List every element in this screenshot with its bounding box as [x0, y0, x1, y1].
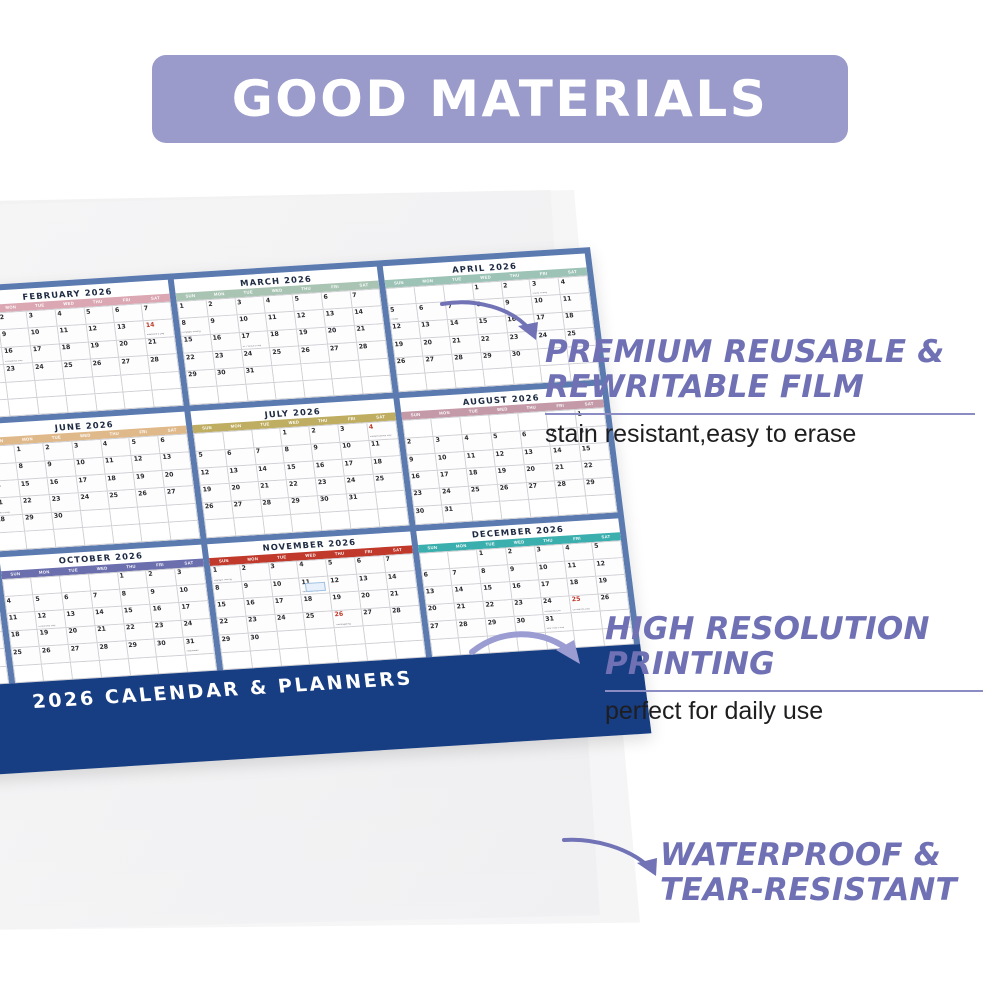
calendar-day-cell[interactable]: 2 — [43, 442, 74, 461]
calendar-day-cell[interactable]: 5 — [34, 593, 65, 612]
calendar-day-cell[interactable] — [586, 495, 617, 514]
calendar-day-cell[interactable]: 15 — [481, 583, 512, 602]
calendar-day-cell[interactable] — [349, 510, 380, 529]
calendar-day-cell[interactable]: 19 — [496, 466, 527, 485]
calendar-day-cell[interactable]: 23 — [512, 598, 543, 617]
calendar-day-cell[interactable]: 25 — [374, 473, 405, 492]
calendar-day-cell[interactable]: 12 — [594, 558, 625, 577]
calendar-day-cell[interactable]: 13 — [115, 322, 146, 341]
calendar-day-cell[interactable]: 26 — [299, 345, 330, 364]
calendar-day-cell[interactable]: 6 — [159, 435, 190, 454]
calendar-day-cell[interactable]: 19 — [393, 339, 424, 358]
calendar-day-cell[interactable] — [277, 630, 308, 649]
calendar-day-cell[interactable] — [364, 625, 395, 644]
calendar-day-cell[interactable]: 27 — [328, 343, 359, 362]
calendar-day-cell[interactable] — [483, 368, 514, 387]
calendar-day-cell[interactable]: 1 — [118, 571, 149, 590]
calendar-day-cell[interactable]: 10 — [436, 452, 467, 471]
calendar-day-cell[interactable]: 9 — [242, 580, 273, 599]
calendar-day-cell[interactable]: 16 — [510, 581, 541, 600]
calendar-day-cell[interactable]: 5 — [326, 558, 357, 577]
calendar-day-cell[interactable]: 23 — [213, 350, 244, 369]
calendar-day-cell[interactable]: 27 — [527, 481, 558, 500]
calendar-day-cell[interactable]: 5Easter — [388, 304, 419, 323]
calendar-day-cell[interactable] — [129, 657, 160, 676]
calendar-day-cell[interactable] — [13, 664, 44, 683]
calendar-day-cell[interactable]: 7 — [0, 463, 19, 482]
calendar-day-cell[interactable]: 29 — [126, 640, 157, 659]
calendar-day-cell[interactable] — [392, 623, 423, 642]
calendar-day-cell[interactable]: 9 — [209, 316, 240, 335]
calendar-day-cell[interactable]: 26 — [136, 488, 167, 507]
calendar-day-cell[interactable] — [359, 358, 390, 377]
calendar-day-cell[interactable] — [112, 525, 143, 544]
calendar-day-cell[interactable]: 9 — [407, 454, 438, 473]
calendar-day-cell[interactable]: 9 — [0, 329, 31, 348]
calendar-day-cell[interactable]: 11 — [566, 560, 597, 579]
calendar-day-cell[interactable]: 20 — [525, 464, 556, 483]
calendar-day-cell[interactable]: 20 — [117, 339, 148, 358]
calendar-day-cell[interactable]: 13 — [324, 308, 355, 327]
calendar-day-cell[interactable]: 19 — [297, 328, 328, 347]
calendar-day-cell[interactable]: 29 — [584, 478, 615, 497]
calendar-day-cell[interactable]: 27 — [424, 354, 455, 373]
calendar-day-cell[interactable]: 19 — [331, 592, 362, 611]
calendar-day-cell[interactable]: 15 — [122, 605, 153, 624]
calendar-day-cell[interactable]: 7 — [350, 289, 381, 308]
calendar-day-cell[interactable]: 25 — [108, 490, 139, 509]
calendar-day-cell[interactable]: 21Father's Day — [0, 497, 23, 516]
calendar-day-cell[interactable] — [157, 655, 188, 674]
calendar-day-cell[interactable]: 19 — [134, 471, 165, 490]
calendar-day-cell[interactable]: 22 — [184, 352, 215, 371]
calendar-day-cell[interactable]: 4Independence Day — [367, 422, 398, 441]
calendar-day-cell[interactable]: 23 — [412, 488, 443, 507]
calendar-day-cell[interactable]: 30 — [52, 511, 83, 530]
calendar-day-cell[interactable] — [222, 651, 253, 670]
calendar-day-cell[interactable]: 13 — [161, 452, 192, 471]
calendar-day-cell[interactable] — [217, 385, 248, 404]
calendar-day-cell[interactable]: 29 — [289, 496, 320, 515]
calendar-day-cell[interactable]: 16Presidents Day — [2, 346, 33, 365]
calendar-day-cell[interactable]: 13 — [522, 447, 553, 466]
calendar-day-cell[interactable]: 8 — [283, 444, 314, 463]
calendar-day-cell[interactable]: 5 — [84, 306, 115, 325]
calendar-day-cell[interactable] — [395, 640, 426, 659]
calendar-day-cell[interactable]: 18 — [563, 311, 594, 330]
calendar-day-cell[interactable]: 18 — [105, 473, 136, 492]
calendar-day-cell[interactable]: 10 — [537, 562, 568, 581]
calendar-day-cell[interactable]: 26 — [203, 502, 234, 521]
calendar-day-cell[interactable]: 13 — [64, 609, 95, 628]
calendar-day-cell[interactable] — [378, 508, 409, 527]
calendar-day-cell[interactable]: 6 — [62, 592, 93, 611]
calendar-day-cell[interactable] — [455, 370, 486, 389]
calendar-day-cell[interactable]: 5 — [293, 293, 324, 312]
calendar-day-cell[interactable]: 28 — [555, 479, 586, 498]
calendar-day-cell[interactable] — [263, 515, 294, 534]
calendar-day-cell[interactable]: 11 — [266, 312, 297, 331]
calendar-day-cell[interactable]: 2 — [240, 563, 271, 582]
calendar-day-cell[interactable]: 21 — [95, 624, 126, 643]
calendar-day-cell[interactable]: 15 — [182, 335, 213, 354]
calendar-day-cell[interactable]: 30 — [249, 632, 280, 651]
calendar-day-cell[interactable]: 12 — [494, 449, 525, 468]
calendar-day-cell[interactable] — [308, 646, 339, 665]
calendar-day-cell[interactable] — [273, 364, 304, 383]
calendar-day-cell[interactable]: 12 — [86, 323, 117, 342]
calendar-day-cell[interactable] — [100, 659, 131, 678]
calendar-day-cell[interactable]: 28 — [390, 606, 421, 625]
calendar-day-cell[interactable] — [186, 653, 217, 672]
calendar-day-cell[interactable]: 16 — [244, 598, 275, 617]
calendar-day-cell[interactable] — [301, 362, 332, 381]
calendar-day-cell[interactable]: 5 — [197, 450, 228, 469]
calendar-day-cell[interactable] — [403, 419, 434, 438]
calendar-day-cell[interactable]: 30 — [318, 494, 349, 513]
calendar-day-cell[interactable] — [124, 391, 155, 410]
calendar-day-cell[interactable]: 7 — [451, 567, 482, 586]
calendar-day-cell[interactable]: 24 — [345, 475, 376, 494]
calendar-day-cell[interactable]: 27 — [120, 356, 151, 375]
calendar-day-cell[interactable] — [304, 379, 335, 398]
calendar-day-cell[interactable]: 21 — [355, 324, 386, 343]
calendar-day-cell[interactable] — [332, 377, 363, 396]
calendar-day-cell[interactable] — [376, 491, 407, 510]
calendar-day-cell[interactable] — [361, 376, 392, 395]
calendar-day-cell[interactable]: 21 — [258, 481, 289, 500]
calendar-day-cell[interactable]: 11Veterans Day — [300, 577, 331, 596]
calendar-day-cell[interactable]: 26 — [395, 356, 426, 375]
calendar-day-cell[interactable] — [430, 638, 461, 657]
calendar-day-cell[interactable]: 25 — [304, 611, 335, 630]
calendar-day-cell[interactable] — [320, 512, 351, 531]
calendar-day-cell[interactable] — [189, 387, 220, 406]
calendar-day-cell[interactable] — [420, 552, 451, 571]
calendar-day-cell[interactable]: 16 — [409, 471, 440, 490]
calendar-day-cell[interactable]: 15 — [285, 462, 316, 481]
calendar-day-cell[interactable]: 20 — [326, 326, 357, 345]
calendar-day-cell[interactable]: 20 — [359, 590, 390, 609]
calendar-day-cell[interactable]: 31 — [244, 366, 275, 385]
calendar-day-cell[interactable]: 28 — [452, 353, 483, 372]
calendar-day-cell[interactable]: 14 — [353, 307, 384, 326]
calendar-day-cell[interactable]: 2 — [0, 312, 29, 331]
calendar-day-cell[interactable]: 1 — [281, 427, 312, 446]
calendar-day-cell[interactable]: 29 — [23, 513, 54, 532]
calendar-day-cell[interactable]: 3 — [535, 544, 566, 563]
calendar-day-cell[interactable]: 30 — [215, 367, 246, 386]
calendar-day-cell[interactable]: 11 — [58, 325, 89, 344]
calendar-day-cell[interactable]: 8 — [479, 565, 510, 584]
calendar-day-cell[interactable]: 2 — [309, 425, 340, 444]
calendar-day-cell[interactable]: 22 — [124, 622, 155, 641]
calendar-day-cell[interactable]: 20 — [230, 482, 261, 501]
calendar-day-cell[interactable] — [95, 392, 126, 411]
calendar-day-cell[interactable]: 23 — [4, 363, 35, 382]
calendar-day-cell[interactable]: 19 — [38, 628, 69, 647]
calendar-day-cell[interactable] — [81, 509, 112, 528]
calendar-day-cell[interactable]: 24 — [440, 487, 471, 506]
calendar-day-cell[interactable]: 22 — [484, 600, 515, 619]
calendar-day-cell[interactable]: 25 — [469, 485, 500, 504]
calendar-day-cell[interactable]: 26 — [498, 483, 529, 502]
calendar-day-cell[interactable]: 24 — [33, 362, 64, 381]
calendar-day-cell[interactable]: 6 — [113, 304, 144, 323]
calendar-day-cell[interactable] — [3, 578, 34, 597]
calendar-day-cell[interactable] — [60, 574, 91, 593]
calendar-day-cell[interactable]: 13 — [227, 465, 258, 484]
calendar-day-cell[interactable]: 8Daylight Saving — [180, 318, 211, 337]
calendar-day-cell[interactable]: 23 — [50, 494, 81, 513]
calendar-day-cell[interactable]: 17 — [77, 475, 108, 494]
calendar-day-cell[interactable]: 21 — [388, 588, 419, 607]
calendar-day-cell[interactable] — [558, 497, 589, 516]
calendar-day-cell[interactable]: 24 — [275, 613, 306, 632]
calendar-day-cell[interactable]: 1 — [477, 548, 508, 567]
calendar-day-cell[interactable]: 14 — [0, 480, 21, 499]
calendar-day-cell[interactable]: 18 — [302, 594, 333, 613]
calendar-day-cell[interactable]: 21 — [455, 602, 486, 621]
calendar-day-cell[interactable]: 6 — [322, 291, 353, 310]
calendar-day-cell[interactable]: 4 — [563, 543, 594, 562]
calendar-day-cell[interactable] — [460, 416, 491, 435]
calendar-day-cell[interactable]: 24 — [79, 492, 110, 511]
calendar-day-cell[interactable]: 6 — [422, 569, 453, 588]
calendar-day-cell[interactable]: 22 — [582, 460, 613, 479]
calendar-day-cell[interactable]: 27 — [232, 500, 263, 519]
calendar-day-cell[interactable]: 4 — [559, 276, 590, 295]
calendar-day-cell[interactable]: 27 — [362, 608, 393, 627]
calendar-day-cell[interactable]: 22 — [21, 496, 52, 515]
calendar-day-cell[interactable] — [54, 528, 85, 547]
calendar-day-cell[interactable]: 20 — [67, 626, 98, 645]
calendar-day-cell[interactable] — [280, 647, 311, 666]
calendar-day-cell[interactable]: 3 — [27, 310, 58, 329]
calendar-day-cell[interactable]: 12 — [132, 454, 163, 473]
calendar-day-cell[interactable]: 18 — [60, 342, 91, 361]
calendar-day-cell[interactable]: 4 — [264, 295, 295, 314]
calendar-day-cell[interactable]: 24Christmas Eve — [541, 596, 572, 615]
calendar-day-cell[interactable] — [93, 375, 124, 394]
calendar-day-cell[interactable] — [330, 360, 361, 379]
calendar-day-cell[interactable]: 14 — [386, 571, 417, 590]
calendar-day-cell[interactable] — [471, 502, 502, 521]
calendar-day-cell[interactable]: 7 — [142, 303, 173, 322]
calendar-day-cell[interactable]: 29 — [481, 351, 512, 370]
calendar-day-cell[interactable] — [335, 627, 366, 646]
calendar-day-cell[interactable] — [83, 526, 114, 545]
calendar-day-cell[interactable] — [0, 532, 28, 551]
calendar-day-cell[interactable]: 25 — [62, 360, 93, 379]
calendar-day-cell[interactable] — [0, 666, 9, 685]
calendar-day-cell[interactable]: 4 — [55, 308, 86, 327]
calendar-day-cell[interactable] — [397, 373, 428, 392]
calendar-day-cell[interactable]: 4 — [297, 559, 328, 578]
calendar-day-cell[interactable]: 1 — [178, 300, 209, 319]
calendar-day-cell[interactable] — [275, 381, 306, 400]
calendar-day-cell[interactable]: 2 — [206, 298, 237, 317]
calendar-day-cell[interactable]: 28 — [0, 515, 26, 534]
calendar-day-cell[interactable] — [89, 573, 120, 592]
calendar-day-cell[interactable]: 5 — [130, 437, 161, 456]
calendar-day-cell[interactable]: 8 — [120, 588, 151, 607]
calendar-day-cell[interactable]: 8 — [213, 582, 244, 601]
calendar-day-cell[interactable]: 3 — [269, 561, 300, 580]
calendar-day-cell[interactable] — [489, 414, 520, 433]
calendar-day-cell[interactable]: 13 — [357, 573, 388, 592]
calendar-day-cell[interactable]: 17 — [539, 579, 570, 598]
calendar-day-cell[interactable]: 4 — [101, 438, 132, 457]
calendar-day-cell[interactable]: 5 — [491, 431, 522, 450]
calendar-day-cell[interactable]: 11 — [369, 439, 400, 458]
calendar-day-cell[interactable]: 31 — [347, 493, 378, 512]
calendar-day-cell[interactable]: 20 — [163, 469, 194, 488]
calendar-day-cell[interactable]: 14 — [93, 607, 124, 626]
calendar-day-cell[interactable]: 25 — [271, 347, 302, 366]
calendar-day-cell[interactable]: 19 — [597, 575, 628, 594]
calendar-day-cell[interactable]: 7 — [384, 554, 415, 573]
calendar-day-cell[interactable]: 10 — [29, 327, 60, 346]
calendar-day-cell[interactable]: 7 — [91, 590, 122, 609]
calendar-day-cell[interactable]: 12 — [295, 310, 326, 329]
calendar-day-cell[interactable] — [66, 394, 97, 413]
calendar-day-cell[interactable] — [292, 513, 323, 532]
calendar-day-cell[interactable]: 7 — [254, 446, 285, 465]
calendar-day-cell[interactable] — [386, 287, 417, 306]
calendar-day-cell[interactable] — [252, 429, 283, 448]
calendar-day-cell[interactable]: 9 — [312, 443, 343, 462]
calendar-day-cell[interactable]: 10 — [340, 441, 371, 460]
calendar-day-cell[interactable]: 18 — [568, 577, 599, 596]
calendar-day-cell[interactable] — [167, 504, 198, 523]
calendar-day-cell[interactable]: 9 — [508, 564, 539, 583]
calendar-day-cell[interactable]: 28 — [148, 354, 179, 373]
calendar-day-cell[interactable] — [122, 373, 153, 392]
calendar-day-cell[interactable]: 15 — [19, 478, 50, 497]
calendar-day-cell[interactable]: 12 — [328, 575, 359, 594]
calendar-day-cell[interactable]: 11 — [7, 612, 38, 631]
calendar-day-cell[interactable]: 15 — [215, 599, 246, 618]
calendar-day-cell[interactable]: 30 — [155, 638, 186, 657]
calendar-day-cell[interactable]: 16 — [314, 460, 345, 479]
calendar-day-cell[interactable] — [9, 398, 40, 417]
calendar-day-cell[interactable]: 12 — [390, 322, 421, 341]
calendar-day-cell[interactable]: 12Columbus Day — [36, 611, 67, 630]
calendar-day-cell[interactable] — [0, 649, 6, 668]
calendar-day-cell[interactable]: 16 — [211, 333, 242, 352]
calendar-day-cell[interactable]: 2 — [405, 437, 436, 456]
calendar-day-cell[interactable]: 26 — [0, 632, 4, 651]
calendar-day-cell[interactable]: 17 — [438, 469, 469, 488]
calendar-day-cell[interactable]: 27 — [165, 487, 196, 506]
calendar-day-cell[interactable]: 27 — [428, 621, 459, 640]
calendar-day-cell[interactable] — [153, 389, 184, 408]
calendar-day-cell[interactable] — [35, 379, 66, 398]
calendar-day-cell[interactable]: 18 — [467, 468, 498, 487]
calendar-day-cell[interactable]: 22 — [218, 617, 249, 636]
calendar-day-cell[interactable]: 10 — [74, 457, 105, 476]
calendar-day-cell[interactable]: 28 — [357, 341, 388, 360]
calendar-day-cell[interactable]: 19 — [0, 615, 2, 634]
calendar-day-cell[interactable]: 20 — [426, 603, 457, 622]
calendar-day-cell[interactable]: 2 — [506, 546, 537, 565]
calendar-day-cell[interactable] — [246, 383, 277, 402]
calendar-day-cell[interactable]: 17 — [273, 596, 304, 615]
calendar-day-cell[interactable]: 25Christmas Day — [570, 594, 601, 613]
calendar-day-cell[interactable]: 16 — [151, 603, 182, 622]
calendar-day-cell[interactable]: 25 — [11, 647, 42, 666]
calendar-day-cell[interactable]: 11 — [465, 450, 496, 469]
calendar-day-cell[interactable]: 8 — [17, 461, 48, 480]
calendar-day-cell[interactable]: 23 — [316, 477, 347, 496]
calendar-day-cell[interactable]: 23 — [246, 615, 277, 634]
calendar-day-cell[interactable]: 17 — [31, 344, 62, 363]
calendar-day-cell[interactable]: 4 — [463, 433, 494, 452]
calendar-day-cell[interactable]: 3 — [235, 297, 266, 316]
calendar-day-cell[interactable]: 10 — [271, 578, 302, 597]
calendar-day-cell[interactable]: 18 — [9, 630, 40, 649]
calendar-day-cell[interactable]: 21 — [146, 337, 177, 356]
calendar-day-cell[interactable] — [306, 628, 337, 647]
calendar-day-cell[interactable]: 16 — [48, 477, 79, 496]
calendar-day-cell[interactable]: 13 — [424, 586, 455, 605]
calendar-day-cell[interactable]: 11 — [561, 294, 592, 313]
calendar-day-cell[interactable] — [194, 433, 225, 452]
calendar-day-cell[interactable]: 24 — [242, 348, 273, 367]
calendar-day-cell[interactable] — [151, 372, 182, 391]
calendar-day-cell[interactable] — [64, 377, 95, 396]
calendar-day-cell[interactable] — [110, 507, 141, 526]
calendar-day-cell[interactable]: 5 — [592, 541, 623, 560]
calendar-day-cell[interactable]: 11 — [103, 456, 134, 475]
calendar-day-cell[interactable]: 19 — [89, 341, 120, 360]
calendar-day-cell[interactable] — [71, 661, 102, 680]
calendar-day-cell[interactable] — [26, 530, 57, 549]
calendar-day-cell[interactable] — [169, 521, 200, 540]
calendar-day-cell[interactable]: 27 — [69, 643, 100, 662]
calendar-day-cell[interactable] — [426, 372, 457, 391]
calendar-day-cell[interactable]: 10 — [237, 314, 268, 333]
calendar-day-cell[interactable] — [42, 662, 73, 681]
calendar-day-cell[interactable]: 2 — [146, 569, 177, 588]
calendar-day-cell[interactable] — [529, 498, 560, 517]
calendar-day-cell[interactable]: 26 — [91, 358, 122, 377]
calendar-day-cell[interactable] — [366, 642, 397, 661]
calendar-day-cell[interactable]: 17St. Patrick's Day — [240, 331, 271, 350]
calendar-day-cell[interactable]: 31Halloween — [184, 636, 215, 655]
calendar-day-cell[interactable] — [141, 523, 172, 542]
calendar-day-cell[interactable] — [138, 506, 169, 525]
calendar-day-cell[interactable]: 3 — [72, 440, 103, 459]
calendar-day-cell[interactable]: 29 — [220, 634, 251, 653]
calendar-day-cell[interactable]: 4 — [5, 595, 36, 614]
calendar-day-cell[interactable]: 18 — [371, 456, 402, 475]
calendar-day-cell[interactable]: 26 — [40, 645, 71, 664]
calendar-day-cell[interactable]: 14 — [453, 584, 484, 603]
calendar-day-cell[interactable] — [31, 576, 62, 595]
calendar-day-cell[interactable]: 31 — [443, 504, 474, 523]
calendar-day-cell[interactable]: 3 — [175, 567, 206, 586]
calendar-day-cell[interactable]: 24 — [182, 619, 213, 638]
calendar-day-cell[interactable] — [223, 431, 254, 450]
calendar-day-cell[interactable]: 28 — [98, 642, 129, 661]
calendar-day-cell[interactable]: 10 — [177, 584, 208, 603]
calendar-day-cell[interactable]: 26 — [599, 593, 630, 612]
calendar-day-cell[interactable]: 29 — [186, 369, 217, 388]
calendar-day-cell[interactable] — [432, 418, 463, 437]
calendar-day-cell[interactable]: 22 — [287, 479, 318, 498]
